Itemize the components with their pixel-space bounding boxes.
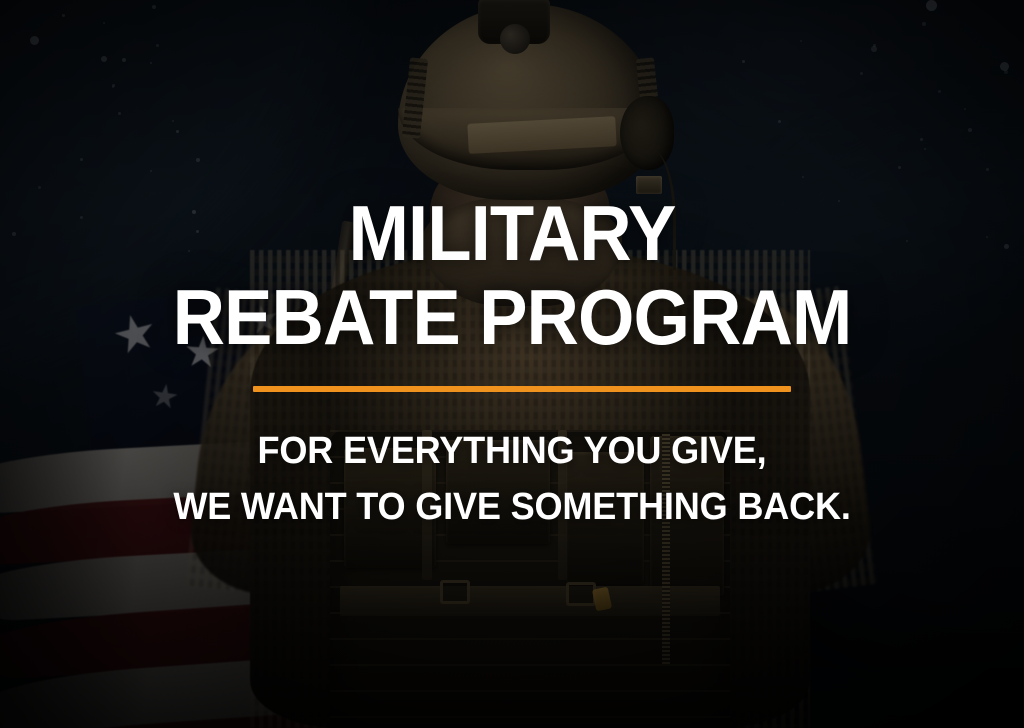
banner-content: MILITARY REBATE PROGRAM FOR EVERYTHING Y… [0, 0, 1024, 728]
headline-line-2: REBATE PROGRAM [36, 281, 988, 354]
subheadline-line-2: WE WANT TO GIVE SOMETHING BACK. [26, 488, 999, 526]
headline-line-1: MILITARY [36, 197, 988, 270]
accent-divider [253, 386, 791, 392]
military-rebate-banner: MILITARY REBATE PROGRAM FOR EVERYTHING Y… [0, 0, 1024, 728]
subheadline-line-1: FOR EVERYTHING YOU GIVE, [26, 432, 999, 470]
